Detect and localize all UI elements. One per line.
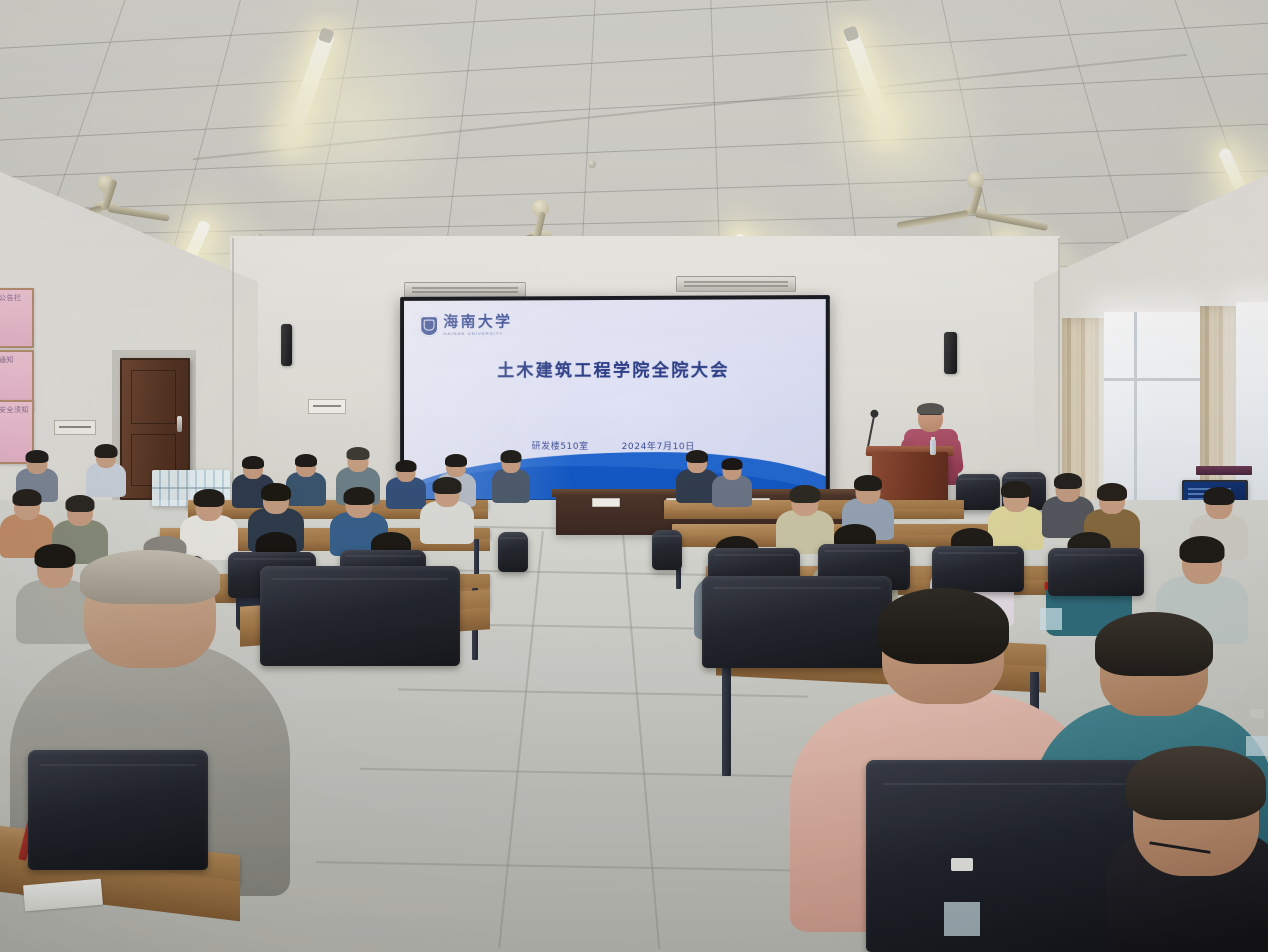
chair-back — [702, 576, 892, 668]
slide-surface: 海南大学 HAINAN UNIVERSITY 土木建筑工程学院全院大会 研发楼5… — [404, 299, 826, 501]
sprinkler-head — [588, 160, 596, 168]
slide-meta: 研发楼510室 2024年7月10日 — [404, 439, 826, 453]
name-plate — [592, 498, 620, 507]
logo-english-text: HAINAN UNIVERSITY — [443, 331, 512, 336]
window-curtain — [1200, 306, 1236, 506]
chair-back — [260, 566, 460, 666]
stacked-books — [1196, 466, 1252, 475]
desk-leg — [722, 666, 731, 776]
chair-back — [28, 750, 208, 870]
wall-sign — [54, 420, 96, 435]
slide-room: 研发楼510室 — [532, 439, 589, 452]
window — [1104, 312, 1200, 508]
university-logo: 海南大学 HAINAN UNIVERSITY — [420, 314, 513, 336]
slide-date: 2024年7月10日 — [622, 439, 695, 452]
chair-back — [932, 546, 1024, 592]
wall-sign — [308, 399, 346, 414]
shield-icon — [420, 315, 439, 336]
chair-back — [1048, 548, 1144, 596]
chair-back — [652, 530, 682, 570]
chair-back — [498, 532, 528, 572]
lecture-hall-photo: 公告栏 通知 安全须知 — [0, 0, 1268, 952]
slide-title: 土木建筑工程学院全院大会 — [404, 356, 826, 382]
logo-chinese-text: 海南大学 — [443, 314, 512, 329]
notice-board: 公告栏 — [0, 288, 34, 348]
ceiling-air-conditioner — [676, 276, 796, 292]
wall-speaker — [281, 324, 292, 366]
wall-speaker — [944, 332, 957, 374]
water-bottle — [930, 440, 936, 455]
